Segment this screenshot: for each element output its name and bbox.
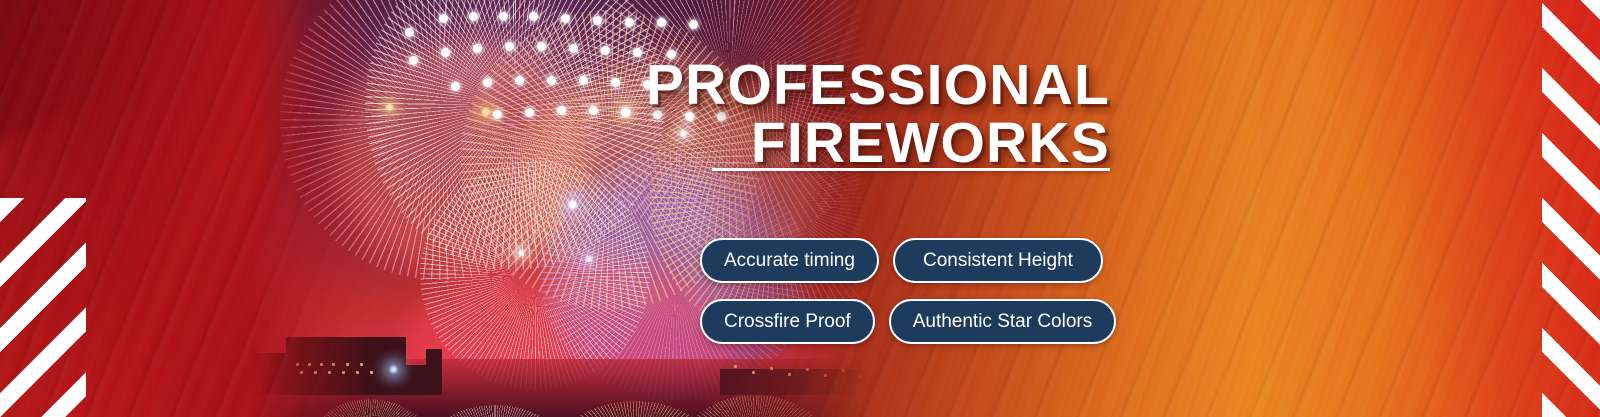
shore-lights [730, 365, 870, 389]
burst-core [568, 200, 577, 209]
building-silhouette [426, 349, 442, 395]
ground-spark [390, 366, 397, 373]
burst-core [518, 250, 524, 256]
promotional-banner: PROFESSIONAL FIREWORKS Accurate timing C… [0, 0, 1600, 417]
headline-block: PROFESSIONAL FIREWORKS [0, 56, 1118, 172]
headline-line-1: PROFESSIONAL [0, 56, 1110, 114]
headline-underline [712, 168, 1110, 171]
feature-pill-group: Accurate timing Consistent Height Crossf… [700, 238, 1120, 360]
left-hazard-stripes [0, 198, 86, 417]
right-hazard-stripes [1542, 0, 1600, 417]
burst-core [586, 256, 592, 262]
feature-pill-crossfire-proof[interactable]: Crossfire Proof [700, 299, 875, 344]
feature-pill-consistent-height[interactable]: Consistent Height [893, 238, 1103, 283]
feature-pill-authentic-star-colors[interactable]: Authentic Star Colors [889, 299, 1117, 344]
feature-pill-row-2: Crossfire Proof Authentic Star Colors [700, 299, 1120, 344]
feature-pill-row-1: Accurate timing Consistent Height [700, 238, 1120, 283]
headline-line-2: FIREWORKS [0, 114, 1110, 172]
feature-pill-accurate-timing[interactable]: Accurate timing [700, 238, 879, 283]
